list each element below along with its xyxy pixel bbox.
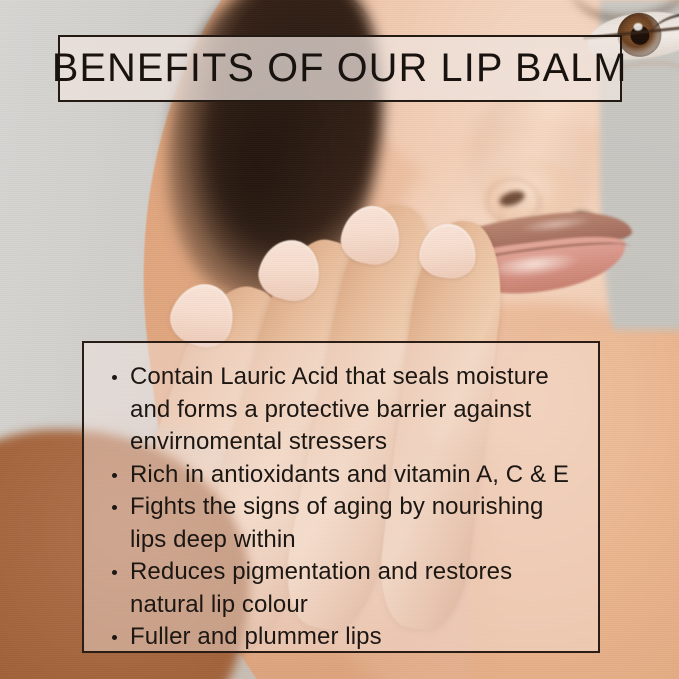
list-item: Rich in antioxidants and vitamin A, C & … — [108, 459, 578, 492]
list-item: Reduces pigmentation and restores natura… — [108, 556, 578, 621]
page-title: BENEFITS OF OUR LIP BALM — [52, 46, 628, 91]
title-banner: BENEFITS OF OUR LIP BALM — [58, 35, 622, 102]
benefits-list: Contain Lauric Acid that seals moisture … — [108, 361, 578, 654]
poster-canvas: BENEFITS OF OUR LIP BALM Contain Lauric … — [0, 0, 679, 679]
list-item: Fuller and plummer lips — [108, 621, 578, 654]
list-item: Contain Lauric Acid that seals moisture … — [108, 361, 578, 459]
list-item: Fights the signs of aging by nourishing … — [108, 491, 578, 556]
benefits-panel: Contain Lauric Acid that seals moisture … — [82, 341, 600, 653]
